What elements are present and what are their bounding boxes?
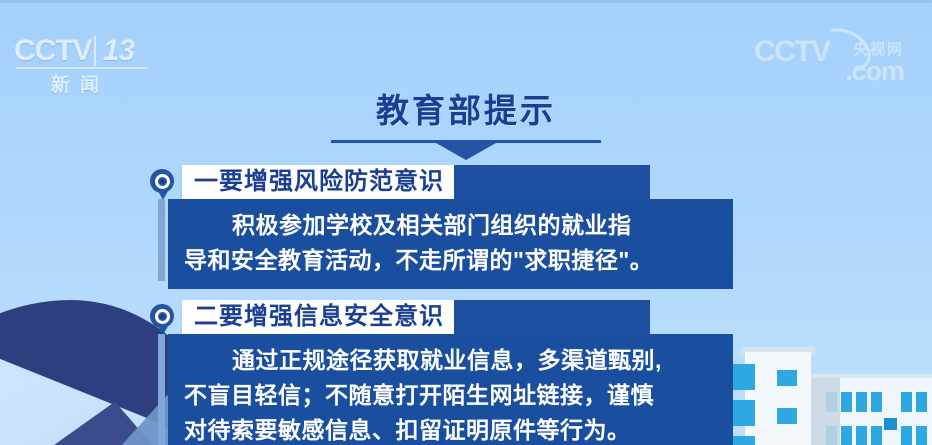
section-2-body-panel: 通过正规途径获取就业信息，多渠道甄别, 不盲目轻信；不随意打开陌生网址链接，谨慎… [168, 334, 733, 445]
building-left [745, 352, 811, 445]
cctv-logo-word: CCTV [14, 34, 92, 67]
top-edge-line [0, 0, 932, 3]
section-2-header-box: 二要增强信息安全意识 [182, 300, 454, 334]
section-2-body-text: 通过正规途径获取就业信息，多渠道甄别, 不盲目轻信；不随意打开陌生网址链接，谨慎… [184, 343, 719, 445]
page-title-block: 教育部提示 [0, 84, 932, 160]
section-2-heading: 二要增强信息安全意识 [194, 304, 444, 330]
watermark-com: .com [845, 56, 904, 87]
section-1-body-text: 积极参加学校及相关部门组织的就业指 导和安全教育活动，不走所谓的"求职捷径"。 [184, 208, 719, 278]
section-1-left-edge [158, 199, 165, 281]
page-title: 教育部提示 [0, 84, 932, 132]
location-pin-icon [150, 169, 176, 203]
cctv-com-watermark: CCTV 央视网 .com [754, 36, 904, 88]
section-1-heading: 一要增强风险防范意识 [194, 169, 444, 195]
location-pin-icon [150, 304, 176, 338]
section-1-body-panel: 积极参加学校及相关部门组织的就业指 导和安全教育活动，不走所谓的"求职捷径"。 [168, 199, 733, 289]
broadcast-frame: CCTV13 新闻 CCTV 央视网 .com 教育部提示 一要增强风险防范意识… [0, 0, 932, 445]
section-2-left-edge [158, 334, 165, 445]
section-1-header-box: 一要增强风险防范意识 [182, 165, 454, 199]
title-triangle-icon [436, 143, 496, 160]
cctv-logo-number: 13 [94, 36, 134, 66]
cctv-logo-rule [16, 67, 148, 69]
building-shadow [806, 378, 840, 445]
